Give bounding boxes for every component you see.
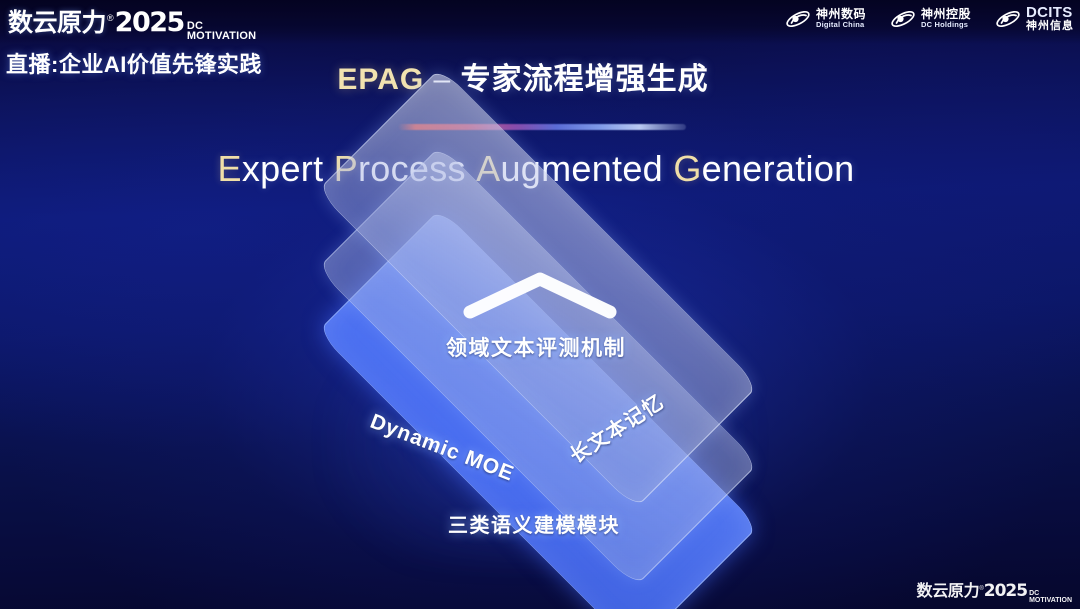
partner-logo-dcits: DCITS 神州信息	[995, 5, 1074, 32]
subtitle-word-rest: ugmented	[500, 148, 663, 189]
partner-logo-digital-china: 神州数码 Digital China	[785, 8, 866, 30]
swirl-icon	[890, 8, 916, 30]
slide-canvas: 数云原力 ® 2025 DC MOTIVATION 直播:企业AI价值先锋实践 …	[0, 0, 1080, 609]
stack-layer-top	[313, 63, 763, 513]
subtitle-word-initial: A	[476, 148, 500, 189]
subtitle-word-initial: G	[673, 148, 701, 189]
brand-dc-motivation: DC MOTIVATION	[187, 21, 256, 41]
stack-label-middle-left: Dynamic MOE	[367, 410, 518, 487]
brand-motivation-label: MOTIVATION	[187, 31, 256, 41]
watermark-year: 2025	[984, 581, 1027, 601]
page-subtitle: Expert Process Augmented Generation	[0, 148, 1076, 190]
partner-name-en: DCITS	[1026, 5, 1074, 21]
brand-year: 2025	[115, 7, 184, 38]
brand-name-cn: 数云原力	[8, 3, 106, 39]
partner-name-en: Digital China	[816, 21, 866, 29]
subtitle-space	[323, 148, 333, 189]
watermark-motivation-label: MOTIVATION	[1029, 598, 1072, 604]
subtitle-word-rest: rocess	[358, 148, 466, 189]
partner-logo-text: DCITS 神州信息	[1026, 5, 1074, 32]
page-title: EPAG – 专家流程增强生成	[0, 54, 1063, 98]
watermark-dc-motivation: DC MOTIVATION	[1029, 591, 1072, 604]
subtitle-word-initial: P	[334, 148, 358, 189]
corner-watermark-logo: 数云原力 ® 2025 DC MOTIVATION	[917, 577, 1072, 605]
title-chinese: 专家流程增强生成	[461, 63, 709, 96]
subtitle-space	[466, 148, 476, 189]
subtitle-word-initial: E	[218, 148, 242, 189]
stack-glow	[330, 300, 750, 560]
stack-label-top: 领域文本评测机制	[0, 332, 1076, 362]
stack-label-bottom: 三类语义建模模块	[0, 509, 1074, 538]
swirl-icon	[785, 8, 811, 30]
title-acronym: EPAG	[337, 63, 424, 96]
title-separator: –	[424, 63, 460, 96]
subtitle-space	[663, 148, 673, 189]
brand-logo: 数云原力 ® 2025 DC MOTIVATION	[8, 3, 256, 43]
layer-face	[317, 145, 759, 587]
partner-logo-text: 神州控股 DC Holdings	[921, 8, 971, 28]
brand-registered-mark: ®	[107, 13, 114, 23]
stack-label-middle-right: 长文本记忆	[563, 386, 669, 469]
watermark-name-cn: 数云原力	[917, 577, 980, 601]
stack-layer-bottom	[313, 204, 763, 609]
partner-logo-text: 神州数码 Digital China	[816, 8, 866, 28]
watermark-registered-mark: ®	[979, 586, 983, 592]
partner-name-en: DC Holdings	[921, 21, 971, 29]
partner-logo-dc-holdings: 神州控股 DC Holdings	[890, 8, 971, 30]
subtitle-word-rest: xpert	[242, 148, 324, 189]
gradient-divider	[398, 124, 686, 130]
partner-logo-row: 神州数码 Digital China 神州控股 DC Holdings	[785, 5, 1074, 32]
partner-name-cn: 神州信息	[1026, 21, 1074, 33]
stack-layer-middle	[313, 141, 763, 591]
layer-face	[317, 208, 759, 609]
swirl-icon	[995, 8, 1021, 30]
subtitle-word-rest: eneration	[702, 148, 855, 189]
layer-face	[317, 67, 759, 509]
chevron-up-icon	[460, 268, 620, 322]
